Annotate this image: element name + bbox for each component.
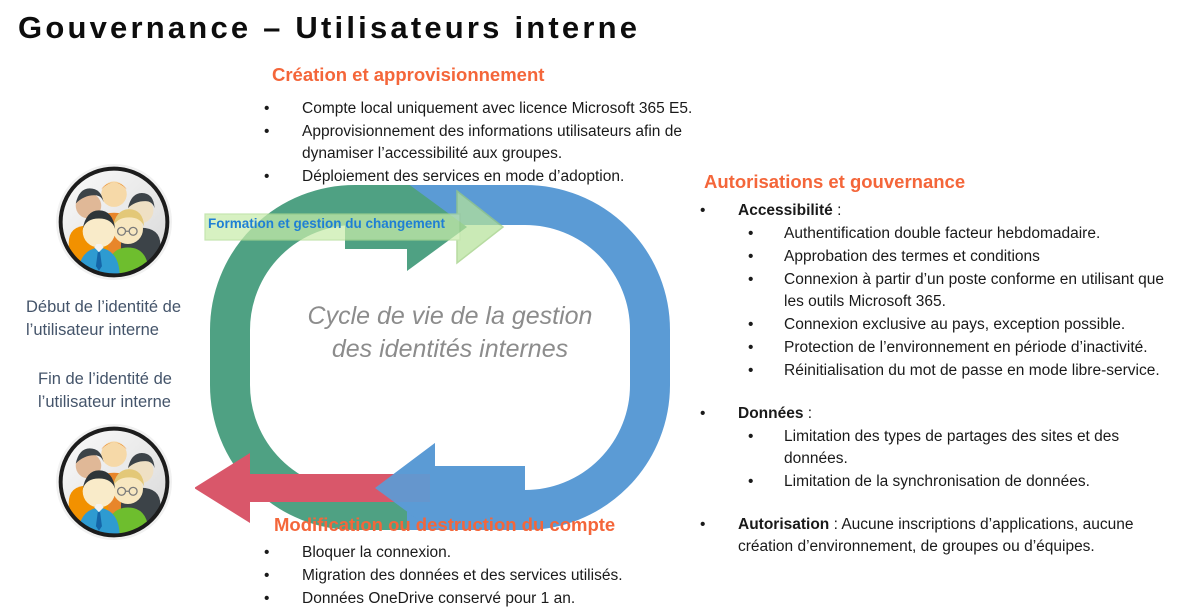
list-item: • Connexion à partir d’un poste conforme… xyxy=(746,269,1176,313)
list-item-text: Migration des données et des services ut… xyxy=(302,565,692,587)
bullet-glyph: • xyxy=(746,223,784,245)
creation-bullet-list: • Compte local uniquement avec licence M… xyxy=(262,98,712,189)
list-item: • Réinitialisation du mot de passe en mo… xyxy=(746,360,1176,382)
list-item-text: Réinitialisation du mot de passe en mode… xyxy=(784,360,1176,382)
training-arrow-label: Formation et gestion du changement xyxy=(208,216,445,231)
list-item-autorisation: • Autorisation : Aucune inscriptions d’a… xyxy=(698,514,1176,558)
list-item-group-header: • Accessibilité : xyxy=(698,200,1176,222)
autorisations-list: • Accessibilité : • Authentification dou… xyxy=(698,200,1176,559)
list-item: • Bloquer la connexion. xyxy=(262,542,692,564)
list-item-text: Données OneDrive conservé pour 1 an. xyxy=(302,588,692,610)
bullet-glyph: • xyxy=(746,337,784,359)
bullet-glyph: • xyxy=(746,246,784,268)
cycle-center-caption: Cycle de vie de la gestion des identités… xyxy=(300,300,600,366)
group-label: Données xyxy=(738,405,803,422)
bullet-glyph: • xyxy=(698,200,738,222)
list-item-text: Compte local uniquement avec licence Mic… xyxy=(302,98,712,120)
list-item: • Compte local uniquement avec licence M… xyxy=(262,98,712,120)
user-group-avatar-top xyxy=(56,164,172,280)
list-item-text: Limitation des types de partages des sit… xyxy=(784,426,1176,470)
list-item-group-header: • Données : xyxy=(698,403,1176,425)
bullet-glyph: • xyxy=(698,403,738,425)
list-item-text: Limitation de la synchronisation de donn… xyxy=(784,471,1176,493)
bullet-glyph: • xyxy=(262,588,302,610)
group-label: Accessibilité xyxy=(738,202,833,219)
modification-bullet-list: • Bloquer la connexion. • Migration des … xyxy=(262,542,692,611)
list-item: • Authentification double facteur hebdom… xyxy=(746,223,1176,245)
bullet-glyph: • xyxy=(262,121,302,143)
list-item-text: Connexion exclusive au pays, exception p… xyxy=(784,314,1176,336)
cycle-blue-arrow-shaft-overlay xyxy=(430,466,525,510)
list-item-text: Approbation des termes et conditions xyxy=(784,246,1176,268)
list-item: • Protection de l’environnement en pério… xyxy=(746,337,1176,359)
list-item-text: Authentification double facteur hebdomad… xyxy=(784,223,1176,245)
bullet-glyph: • xyxy=(262,542,302,564)
bullet-glyph: • xyxy=(746,269,784,291)
user-group-icon xyxy=(56,424,172,540)
list-spacer xyxy=(698,383,1176,403)
slide-canvas: Gouvernance – Utilisateurs interne Créat… xyxy=(0,0,1179,616)
heading-autorisations: Autorisations et gouvernance xyxy=(704,171,965,193)
heading-modification: Modification ou destruction du compte xyxy=(274,514,615,536)
list-item: • Connexion exclusive au pays, exception… xyxy=(746,314,1176,336)
list-item: • Migration des données et des services … xyxy=(262,565,692,587)
list-item-text: Bloquer la connexion. xyxy=(302,542,692,564)
group-separator: : xyxy=(803,405,812,422)
bullet-glyph: • xyxy=(746,314,784,336)
list-item-text: Protection de l’environnement en période… xyxy=(784,337,1176,359)
heading-creation: Création et approvisionnement xyxy=(272,64,544,86)
user-group-avatar-bottom xyxy=(56,424,172,540)
list-item: • Approvisionnement des informations uti… xyxy=(262,121,712,165)
user-group-icon xyxy=(56,164,172,280)
list-item: • Limitation de la synchronisation de do… xyxy=(746,471,1176,493)
list-spacer xyxy=(698,494,1176,514)
bullet-glyph: • xyxy=(746,360,784,382)
list-item-text: Connexion à partir d’un poste conforme e… xyxy=(784,269,1176,313)
bullet-glyph: • xyxy=(698,514,738,536)
list-item: • Données OneDrive conservé pour 1 an. xyxy=(262,588,692,610)
bullet-glyph: • xyxy=(746,426,784,448)
sublist-accessibilite: • Authentification double facteur hebdom… xyxy=(698,223,1176,382)
bullet-glyph: • xyxy=(746,471,784,493)
list-item: • Approbation des termes et conditions xyxy=(746,246,1176,268)
bullet-glyph: • xyxy=(262,565,302,587)
list-item-text: Approvisionnement des informations utili… xyxy=(302,121,712,165)
bullet-glyph: • xyxy=(262,98,302,120)
autorisation-label: Autorisation xyxy=(738,516,829,533)
sublist-donnees: • Limitation des types de partages des s… xyxy=(698,426,1176,493)
page-title: Gouvernance – Utilisateurs interne xyxy=(18,10,640,46)
group-separator: : xyxy=(833,202,842,219)
list-item: • Limitation des types de partages des s… xyxy=(746,426,1176,470)
